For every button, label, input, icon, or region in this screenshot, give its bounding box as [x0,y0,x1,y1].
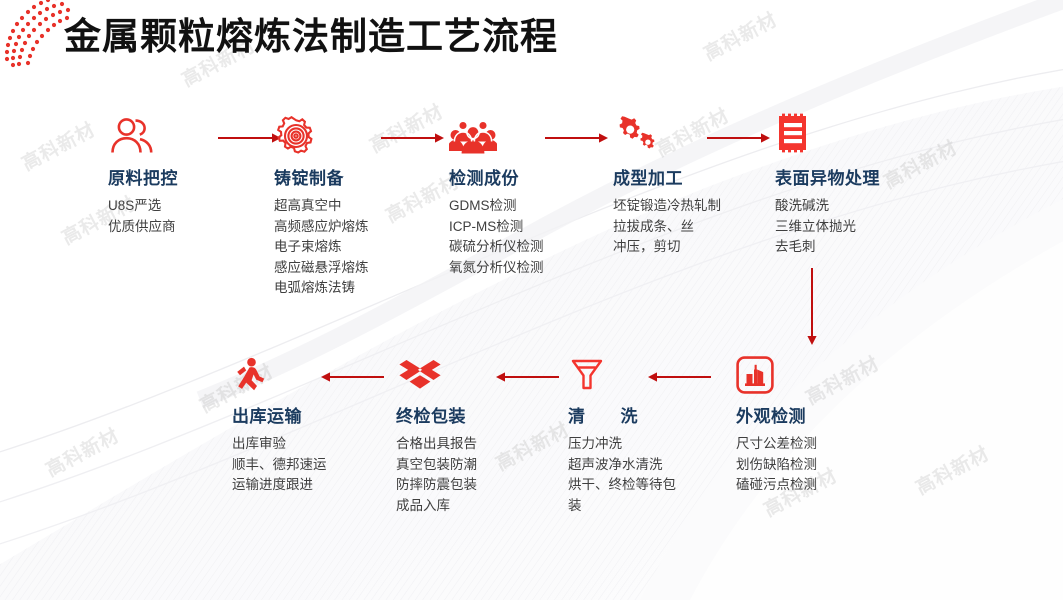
factory-box-icon [736,352,817,394]
step-detail-lines: 合格出具报告 真空包装防潮 防摔防震包装 成品入库 [396,434,477,516]
step-detail-line: 合格出具报告 [396,434,477,455]
double-gears-icon [613,112,721,156]
step-detail-line: 酸洗碱洗 [775,196,880,217]
step-detail-lines: U8S严选 优质供应商 [108,196,178,237]
step-detail-line: 感应磁悬浮熔炼 [274,258,369,279]
step-detail-line: 坯锭锻造冷热轧制 [613,196,721,217]
watermark: 高科新材 [490,415,573,476]
step-detail-line: 成品入库 [396,496,477,517]
step-detail-line: 防摔防震包装 [396,475,477,496]
background-decoration: 高科新材 高科新材 高科新材 高科新材 高科新材 高科新材 高科新材 高科新材 … [0,0,1063,600]
step-detail-line: 超高真空中 [274,196,369,217]
step-detail-line: 尺寸公差检测 [736,434,817,455]
step-detail-lines: GDMS检测 ICP-MS检测 碳硫分析仪检测 氧氮分析仪检测 [449,196,544,278]
step-detail-line: 运输进度跟进 [232,475,327,496]
step-detail-line: 三维立体抛光 [775,217,880,238]
walking-person-icon [232,352,327,394]
step-title: 成型加工 [613,164,721,189]
arrow-right-step2-to-step3 [381,132,445,144]
flow-step-ingot-preparation[interactable]: 铸锭制备 超高真空中 高频感应炉熔炼 电子束熔炼 感应磁悬浮熔炼 电弧熔炼法铸 [274,112,369,299]
arrow-down-step5-to-step6 [806,268,818,346]
flow-step-final-inspection-packaging[interactable]: 终检包装 合格出具报告 真空包装防潮 防摔防震包装 成品入库 [396,352,477,516]
flow-step-composition-testing[interactable]: 检测成份 GDMS检测 ICP-MS检测 碳硫分析仪检测 氧氮分析仪检测 [449,112,544,278]
step-detail-lines: 酸洗碱洗 三维立体抛光 去毛刺 [775,196,880,258]
arrow-left-step7-to-step8 [495,371,559,383]
watermark: 高科新材 [910,439,993,500]
step-detail-line: U8S严选 [108,196,178,217]
people-group-solid-icon [449,112,544,156]
step-detail-line: 电弧熔炼法铸 [274,278,369,299]
arrow-right-step3-to-step4 [545,132,609,144]
step-detail-line: 优质供应商 [108,217,178,238]
step-detail-line: 磕碰污点检测 [736,475,817,496]
step-detail-line: 顺丰、德邦速运 [232,455,327,476]
step-title: 检测成份 [449,164,544,189]
step-detail-line: 冲压，剪切 [613,237,721,258]
step-detail-line: 去毛刺 [775,237,880,258]
step-detail-line: 压力冲洗 [568,434,680,455]
step-detail-line: 高频感应炉熔炼 [274,217,369,238]
step-detail-lines: 压力冲洗 超声波净水清洗 烘干、终检等待包装 [568,434,680,516]
step-detail-line: 出库审验 [232,434,327,455]
flow-step-cleaning[interactable]: 清 洗 压力冲洗 超声波净水清洗 烘干、终检等待包装 [568,352,680,516]
flow-step-outbound-transport[interactable]: 出库运输 出库审验 顺丰、德邦速运 运输进度跟进 [232,352,327,496]
watermark: 高科新材 [698,5,781,66]
step-detail-lines: 尺寸公差检测 划伤缺陷检测 磕碰污点检测 [736,434,817,496]
watermark: 高科新材 [16,115,99,176]
flow-step-raw-material-control[interactable]: 原料把控 U8S严选 优质供应商 [108,112,178,237]
step-detail-line: 拉拔成条、丝 [613,217,721,238]
flow-step-appearance-inspection[interactable]: 外观检测 尺寸公差检测 划伤缺陷检测 磕碰污点检测 [736,352,817,496]
watermark: 高科新材 [364,97,447,158]
step-detail-line: 碳硫分析仪检测 [449,237,544,258]
step-detail-line: 划伤缺陷检测 [736,455,817,476]
flow-step-surface-foreign-matter-treatment[interactable]: 表面异物处理 酸洗碱洗 三维立体抛光 去毛刺 [775,108,880,258]
step-detail-lines: 坯锭锻造冷热轧制 拉拔成条、丝 冲压，剪切 [613,196,721,258]
step-detail-line: GDMS检测 [449,196,544,217]
step-title: 出库运输 [232,402,327,427]
step-detail-lines: 超高真空中 高频感应炉熔炼 电子束熔炼 感应磁悬浮熔炼 电弧熔炼法铸 [274,196,369,299]
step-detail-line: 电子束熔炼 [274,237,369,258]
page-title: 金属颗粒熔炼法制造工艺流程 [64,6,558,60]
gear-rings-icon [274,112,369,156]
step-title: 外观检测 [736,402,817,427]
step-detail-line: ICP-MS检测 [449,217,544,238]
step-detail-line: 超声波净水清洗 [568,455,680,476]
document-lines-icon [775,108,880,156]
step-title: 清 洗 [568,402,680,427]
arrow-right-step1-to-step2 [218,132,282,144]
arrow-left-step8-to-step9 [320,371,384,383]
open-box-icon [396,352,477,394]
watermark: 高科新材 [878,133,961,194]
step-detail-line: 烘干、终检等待包装 [568,475,680,516]
watermark: 高科新材 [40,421,123,482]
step-title: 终检包装 [396,402,477,427]
two-people-outline-icon [108,112,178,156]
step-title: 原料把控 [108,164,178,189]
step-detail-line: 氧氮分析仪检测 [449,258,544,279]
step-detail-line: 真空包装防潮 [396,455,477,476]
flow-step-forming-processing[interactable]: 成型加工 坯锭锻造冷热轧制 拉拔成条、丝 冲压，剪切 [613,112,721,258]
step-detail-lines: 出库审验 顺丰、德邦速运 运输进度跟进 [232,434,327,496]
step-title: 铸锭制备 [274,164,369,189]
background-swoosh-shapes [0,0,1063,600]
arrow-right-step4-to-step5 [707,132,771,144]
funnel-icon [568,352,680,394]
step-title: 表面异物处理 [775,164,880,189]
